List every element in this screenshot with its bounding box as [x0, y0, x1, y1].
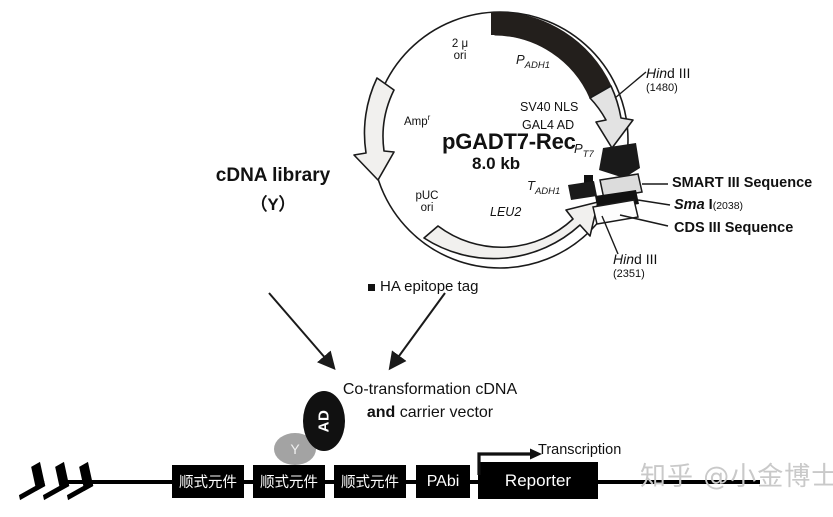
feature-amp: Ampr: [404, 114, 430, 128]
ad-oval-label: AD: [316, 410, 333, 433]
plasmid-map: pGADT7-Rec 8.0 kb 2 μ ori Ampr pUC ori L…: [350, 0, 690, 290]
hind3-1480-enzyme-italic: Hin: [646, 65, 667, 81]
figure-canvas: pGADT7-Rec 8.0 kb 2 μ ori Ampr pUC ori L…: [0, 0, 833, 517]
feature-gal4-ad: GAL4 AD: [522, 119, 574, 132]
feature-2mu-ori: 2 μ ori: [440, 38, 480, 62]
cdna-library-title: cDNA library: [168, 165, 378, 187]
hind3-2351-enzyme-italic: Hin: [613, 251, 634, 267]
hind3-1480-position: (1480): [646, 82, 690, 94]
hind3-1480-enzyme-rest: d III: [667, 65, 690, 81]
cdna-library-subtitle: （Y）: [168, 190, 378, 215]
hind3-2351-enzyme-rest: d III: [634, 251, 657, 267]
plasmid-size: 8.0 kb: [472, 155, 520, 173]
cotransformation-and: and: [367, 404, 395, 421]
hind3-2351-position: (2351): [613, 268, 657, 280]
transcription-arrow-icon: [476, 447, 546, 477]
cis-element-box-2: 顺式元件: [253, 465, 325, 498]
plasmid-name: pGADT7-Rec: [442, 130, 576, 153]
feature-p-t7: PT7: [574, 141, 594, 160]
transcription-label: Transcription: [538, 442, 621, 458]
feature-sv40-nls: SV40 NLS: [520, 101, 578, 114]
arrow-plasmid-to-cotransformation: [391, 293, 445, 367]
zhihu-watermark: 知乎 @小金博士: [640, 456, 833, 493]
cis-element-box-1: 顺式元件: [172, 465, 244, 498]
cotransformation-line1: Co-transformation cDNA: [300, 378, 560, 401]
sma1-position: (2038): [713, 200, 743, 212]
leader-hind3-1480: [615, 72, 646, 98]
pt7-block: [599, 143, 640, 178]
cis-element-box-3: 顺式元件: [334, 465, 406, 498]
convergence-arrows: [255, 285, 515, 385]
y-oval-label: Y: [290, 441, 299, 457]
amp-superscript: r: [428, 113, 431, 122]
feature-puc-ori: pUC ori: [406, 190, 448, 214]
p-adh1-arc: [495, 12, 611, 98]
feature-p-adh1: PADH1: [516, 52, 550, 71]
t-adh1-block: [568, 181, 597, 200]
cdna-library-heading: cDNA library （Y）: [168, 165, 378, 215]
cotransformation-carrier: carrier vector: [395, 404, 493, 421]
arrow-cdna-to-cotransformation: [269, 293, 333, 367]
promoter-pabi-box: PAbi: [416, 465, 470, 498]
feature-leu2: LEU2: [490, 206, 521, 219]
callout-smart3: SMART III Sequence: [672, 175, 812, 191]
callout-sma1: Sma I(2038): [674, 197, 743, 213]
leader-cds3: [620, 215, 668, 226]
callout-hind3-1480: Hind III (1480): [646, 66, 690, 94]
activation-domain-oval: AD: [303, 391, 345, 451]
feature-t-adh1: TADH1: [527, 178, 560, 197]
sma1-enzyme-rest: I: [705, 197, 713, 213]
callout-hind3-2351: Hind III (2351): [613, 252, 657, 280]
sma1-enzyme-italic: Sma: [674, 197, 705, 213]
leader-sma1: [638, 200, 670, 205]
callout-cds3: CDS III Sequence: [674, 220, 793, 236]
